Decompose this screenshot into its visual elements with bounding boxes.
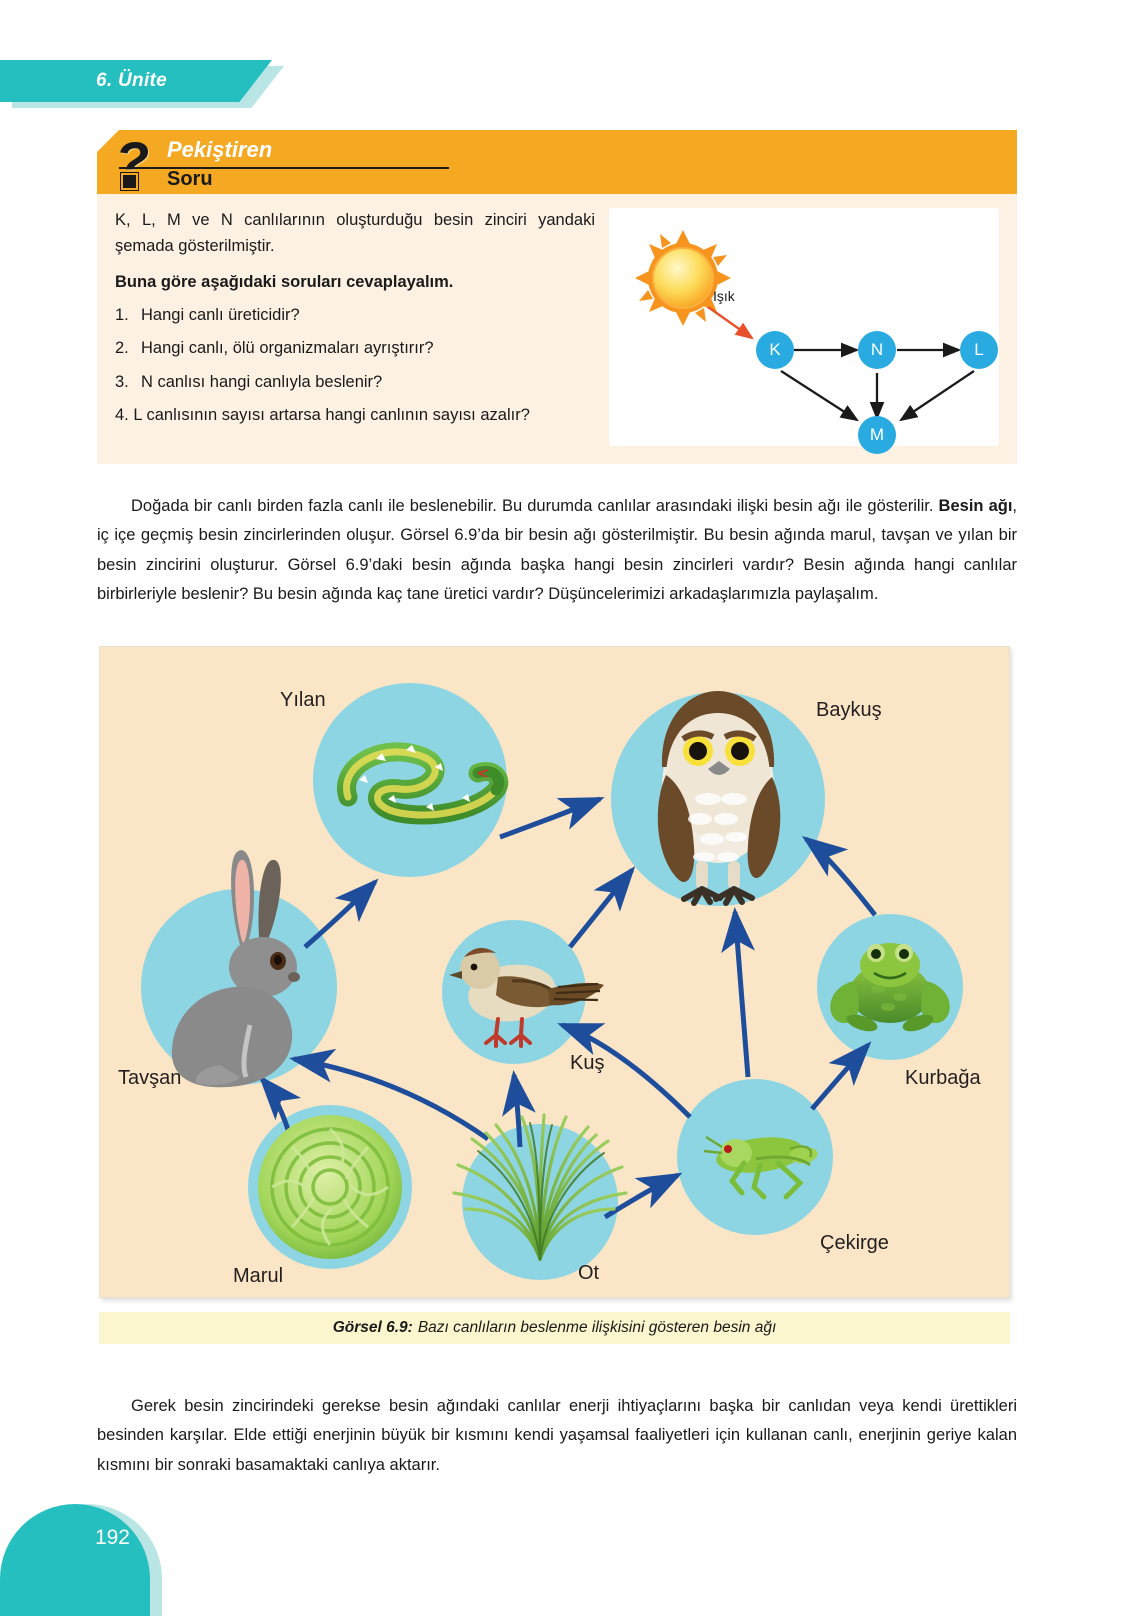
question-instruction: Buna göre aşağıdaki soruları cevaplayalı… <box>115 270 595 296</box>
node-M-label: M <box>870 425 884 445</box>
question-text-column: K, L, M ve N canlılarının oluşturduğu be… <box>115 208 595 446</box>
reinforcement-question-box: ? Pekiştiren Soru K, L, M ve N canlıları… <box>97 130 1017 464</box>
label-yilan: Yılan <box>280 689 326 712</box>
question-item-1: 1. Hangi canlı üreticidir? <box>115 303 595 329</box>
food-web-figure: Yılan Baykuş Tavşan Kuş Kurbağa Çekirge … <box>99 646 1010 1298</box>
node-K: K <box>756 331 794 369</box>
question-box-body: K, L, M ve N canlılarının oluşturduğu be… <box>97 194 1017 464</box>
question-item-2-number: 2. <box>115 336 132 362</box>
page-number-label: 192 <box>95 1526 130 1550</box>
label-cekirge: Çekirge <box>820 1232 889 1255</box>
light-label: Işık <box>713 288 735 304</box>
question-item-2: 2. Hangi canlı, ölü organizmaları ayrışt… <box>115 336 595 362</box>
question-item-2-text: Hangi canlı, ölü organizmaları ayrıştırı… <box>141 336 434 362</box>
question-item-3-text: N canlısı hangi canlıyla beslenir? <box>141 370 382 396</box>
question-intro: K, L, M ve N canlılarının oluşturduğu be… <box>115 208 595 259</box>
node-K-label: K <box>769 340 780 360</box>
food-web-graphic <box>100 647 1010 1298</box>
question-item-1-text: Hangi canlı üreticidir? <box>141 303 300 329</box>
question-item-3-number: 3. <box>115 370 132 396</box>
node-M: M <box>858 416 896 454</box>
figure-caption-text: Bazı canlıların beslenme ilişkisini göst… <box>418 1319 776 1337</box>
label-marul: Marul <box>233 1265 283 1288</box>
food-chain-diagram: Işık K N L M <box>609 208 999 446</box>
node-N: N <box>858 331 896 369</box>
question-item-3: 3. N canlısı hangi canlıyla beslenir? <box>115 370 595 396</box>
node-L-label: L <box>974 340 983 360</box>
label-ot: Ot <box>578 1262 599 1285</box>
paragraph-energy-transfer: Gerek besin zincirindeki gerekse besin a… <box>97 1392 1017 1480</box>
figure-caption-number: Görsel 6.9: <box>333 1319 413 1337</box>
label-tavsan: Tavşan <box>118 1067 181 1090</box>
paragraph-food-web-intro: Doğada bir canlı birden fazla canlı ile … <box>97 492 1017 609</box>
question-box-title: Pekiştiren <box>167 137 272 163</box>
question-box-header: ? Pekiştiren Soru <box>97 130 1017 194</box>
textbook-page: 6. Ünite ? Pekiştiren Soru K, L, M ve N … <box>0 0 1134 1616</box>
question-item-4-number: 4. <box>115 406 129 424</box>
question-item-4-text: L canlısının sayısı artarsa hangi canlın… <box>133 406 530 424</box>
lettuce-icon <box>258 1115 402 1259</box>
question-item-4: 4. L canlısının sayısı artarsa hangi can… <box>115 403 595 429</box>
question-mark-dot-icon <box>121 173 138 190</box>
food-chain-arrows <box>609 208 989 468</box>
figure-caption: Görsel 6.9: Bazı canlıların beslenme ili… <box>99 1312 1010 1344</box>
question-box-subtitle: Soru <box>167 168 213 191</box>
unit-label: 6. Ünite <box>96 70 167 92</box>
label-kus: Kuş <box>570 1052 604 1075</box>
label-baykus: Baykuş <box>816 699 882 722</box>
node-N-label: N <box>871 340 883 360</box>
question-item-1-number: 1. <box>115 303 132 329</box>
label-kurbaga: Kurbağa <box>905 1067 981 1090</box>
node-L: L <box>960 331 998 369</box>
